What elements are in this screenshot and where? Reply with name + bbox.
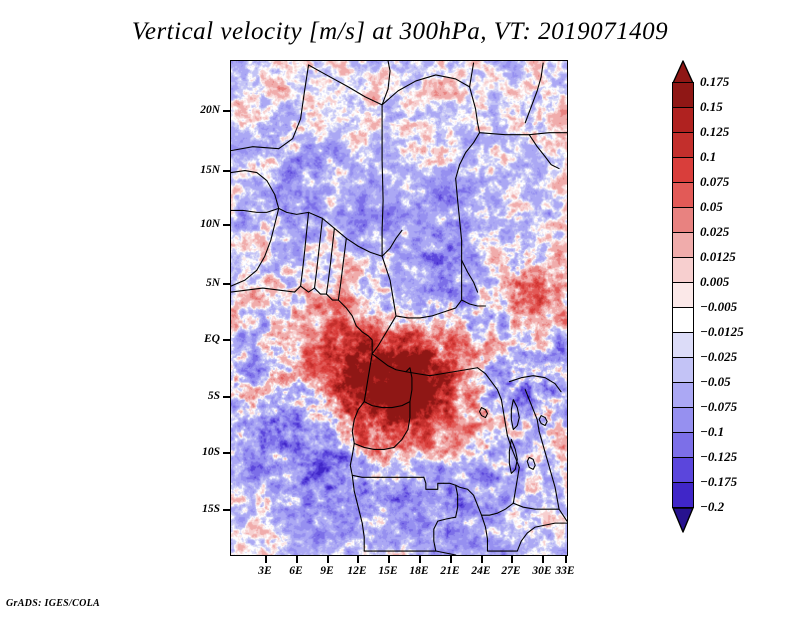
colorbar-segment	[672, 232, 694, 258]
y-tick-EQ	[223, 339, 230, 341]
y-label-20N: 20N	[200, 104, 220, 116]
colorbar-tick-label: 0.125	[700, 124, 729, 140]
colorbar-tick-label: −0.025	[700, 349, 737, 365]
y-label-10S: 10S	[202, 446, 220, 458]
colorbar-tick-label: 0.175	[700, 74, 729, 90]
colorbar-tick-label: −0.2	[700, 499, 724, 515]
colorbar-tick-label: 0.1	[700, 149, 716, 165]
colorbar-segment	[672, 107, 694, 133]
x-tick-3E	[265, 556, 267, 563]
y-label-EQ: EQ	[204, 333, 220, 345]
country-borders-overlay	[231, 61, 567, 555]
colorbar-max-arrow	[672, 60, 694, 82]
colorbar-tick-label: 0.025	[700, 224, 729, 240]
x-tick-27E	[511, 556, 513, 563]
colorbar-tick-label: 0.15	[700, 99, 723, 115]
y-label-10N: 10N	[200, 218, 220, 230]
x-tick-12E	[357, 556, 359, 563]
y-tick-15N	[223, 170, 230, 172]
colorbar-segment	[672, 382, 694, 408]
colorbar-tick-label: −0.1	[700, 424, 724, 440]
chart-page: Vertical velocity [m/s] at 300hPa, VT: 2…	[0, 0, 800, 618]
colorbar-segment	[672, 432, 694, 458]
y-tick-5S	[223, 396, 230, 398]
colorbar-segment	[672, 357, 694, 383]
colorbar-segment	[672, 182, 694, 208]
colorbar-segment	[672, 207, 694, 233]
x-tick-33E	[565, 556, 567, 563]
y-tick-10N	[223, 224, 230, 226]
y-label-5S: 5S	[208, 390, 220, 402]
colorbar-tick-label: 0.005	[700, 274, 729, 290]
colorbar-segment	[672, 82, 694, 108]
colorbar-tick-label: 0.0125	[700, 249, 736, 265]
y-label-5N: 5N	[206, 277, 220, 289]
colorbar-tick-label: −0.05	[700, 374, 731, 390]
colorbar-segment	[672, 157, 694, 183]
y-tick-15S	[223, 509, 230, 511]
colorbar-tick-label: −0.175	[700, 474, 737, 490]
y-label-15S: 15S	[202, 503, 220, 515]
x-tick-30E	[542, 556, 544, 563]
map-plot-area	[230, 60, 568, 556]
y-tick-20N	[223, 110, 230, 112]
colorbar	[672, 60, 694, 560]
colorbar-tick-label: −0.0125	[700, 324, 744, 340]
colorbar-segment	[672, 457, 694, 483]
colorbar-segment	[672, 282, 694, 308]
colorbar-tick-label: 0.075	[700, 174, 729, 190]
colorbar-segment	[672, 257, 694, 283]
x-tick-15E	[388, 556, 390, 563]
x-label-33E: 33E	[545, 565, 585, 577]
y-tick-10S	[223, 452, 230, 454]
colorbar-tick-label: −0.125	[700, 449, 737, 465]
x-tick-6E	[296, 556, 298, 563]
x-tick-21E	[450, 556, 452, 563]
footer-credit: GrADS: IGES/COLA	[6, 598, 100, 609]
x-tick-9E	[327, 556, 329, 563]
colorbar-segment	[672, 132, 694, 158]
x-tick-24E	[481, 556, 483, 563]
x-tick-18E	[419, 556, 421, 563]
colorbar-tick-label: −0.005	[700, 299, 737, 315]
colorbar-tick-label: 0.05	[700, 199, 723, 215]
colorbar-segment	[672, 307, 694, 333]
y-tick-5N	[223, 283, 230, 285]
colorbar-tick-label: −0.075	[700, 399, 737, 415]
colorbar-segment	[672, 407, 694, 433]
colorbar-segment	[672, 482, 694, 508]
y-label-15N: 15N	[200, 164, 220, 176]
page-title: Vertical velocity [m/s] at 300hPa, VT: 2…	[0, 18, 800, 46]
colorbar-min-arrow	[672, 507, 694, 529]
colorbar-segment	[672, 332, 694, 358]
